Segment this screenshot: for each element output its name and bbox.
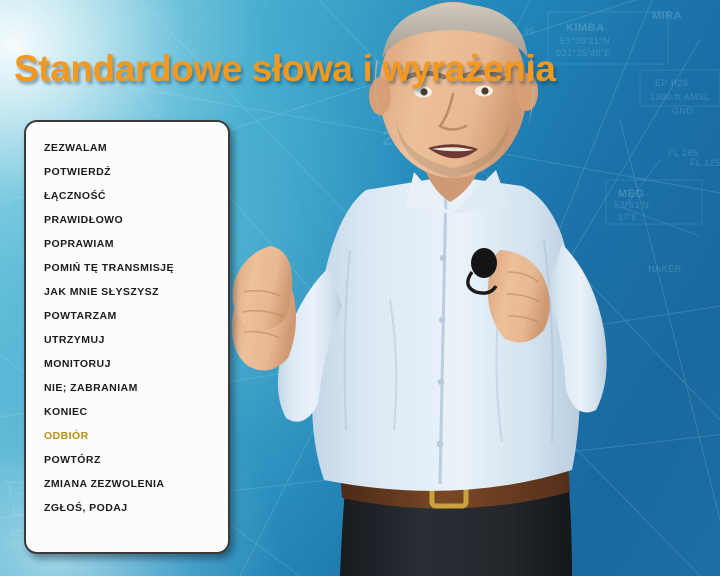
list-item: ZEZWALAM [44, 136, 228, 160]
list-item: POTWIERDŹ [44, 160, 228, 184]
slide-stage: KIMBA51°39'21"N021°25'40"EMIRAFL 285FL 1… [0, 0, 720, 576]
phrase-list: ZEZWALAMPOTWIERDŹŁĄCZNOŚĆPRAWIDŁOWOPOPRA… [26, 122, 228, 520]
list-item: KONIEC [44, 400, 228, 424]
list-item: POPRAWIAM [44, 232, 228, 256]
list-item: ŁĄCZNOŚĆ [44, 184, 228, 208]
page-title: Standardowe słowa i wyrażenia [14, 48, 556, 90]
standard-phrases-card: ZEZWALAMPOTWIERDŹŁĄCZNOŚĆPRAWIDŁOWOPOPRA… [24, 120, 230, 554]
list-item: MONITORUJ [44, 352, 228, 376]
list-item: POMIŃ TĘ TRANSMISJĘ [44, 256, 228, 280]
list-item: POWTARZAM [44, 304, 228, 328]
list-item: ZGŁOŚ, PODAJ [44, 496, 228, 520]
list-item: ZMIANA ZEZWOLENIA [44, 472, 228, 496]
list-item: JAK MNIE SŁYSZYSZ [44, 280, 228, 304]
list-item: ODBIÓR [44, 424, 228, 448]
list-item: POWTÓRZ [44, 448, 228, 472]
list-item: NIE; ZABRANIAM [44, 376, 228, 400]
list-item: UTRZYMUJ [44, 328, 228, 352]
list-item: PRAWIDŁOWO [44, 208, 228, 232]
